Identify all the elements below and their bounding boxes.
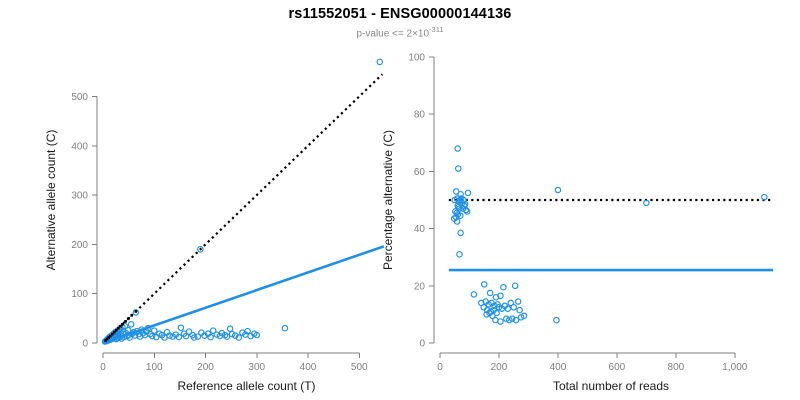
y-tick-label: 60: [414, 167, 426, 178]
data-point: [456, 166, 461, 171]
x-tick-label: 600: [609, 362, 626, 373]
data-point: [481, 305, 486, 310]
data-point: [458, 230, 463, 235]
x-tick-label: 800: [668, 362, 685, 373]
chart-page: rs11552051 - ENSG00000144136 p-value <= …: [0, 0, 800, 400]
data-point: [282, 326, 287, 331]
x-axis-title: Total number of reads: [553, 379, 669, 393]
x-tick-label: 500: [351, 362, 368, 373]
y-tick-label: 40: [414, 224, 426, 235]
x-tick-label: 200: [491, 362, 508, 373]
left-panel: 01002003004005000100200300400500Referenc…: [44, 59, 384, 393]
data-point: [555, 187, 560, 192]
data-point: [493, 317, 498, 322]
y-tick-label: 20: [414, 281, 426, 292]
y-tick-label: 0: [419, 339, 425, 350]
subtitle-text: p-value <= 2×10: [356, 28, 429, 39]
data-point: [554, 317, 559, 322]
data-point: [515, 299, 520, 304]
x-tick-label: 400: [300, 362, 317, 373]
x-tick-label: 0: [100, 362, 106, 373]
page-title: rs11552051 - ENSG00000144136: [0, 6, 800, 22]
x-axis-title: Reference allele count (T): [177, 379, 315, 393]
data-point: [124, 320, 127, 323]
y-axis-title: Percentage alternative (C): [381, 130, 395, 270]
data-point: [471, 292, 476, 297]
data-point: [465, 190, 470, 195]
x-tick-label: 200: [197, 362, 214, 373]
y-tick-label: 0: [82, 339, 88, 350]
data-point: [455, 146, 460, 151]
data-point: [482, 282, 487, 287]
data-point: [517, 307, 522, 312]
data-point: [377, 59, 382, 64]
y-tick-label: 400: [71, 141, 88, 152]
data-point: [487, 290, 492, 295]
data-point: [501, 285, 506, 290]
data-point: [121, 323, 124, 326]
data-point: [178, 325, 183, 330]
y-tick-label: 80: [414, 110, 426, 121]
x-tick-label: 1,000: [722, 362, 747, 373]
reference-diagonal-line: [103, 74, 382, 343]
right-panel: 02040608010002004006008001,000Total numb…: [381, 53, 773, 394]
y-tick-label: 500: [71, 92, 88, 103]
data-point: [511, 305, 516, 310]
data-point: [464, 209, 469, 214]
y-tick-label: 300: [71, 191, 88, 202]
y-tick-label: 100: [71, 289, 88, 300]
data-point: [135, 310, 138, 313]
x-tick-label: 100: [146, 362, 163, 373]
data-point: [152, 328, 157, 333]
data-point: [128, 322, 133, 327]
x-tick-label: 0: [437, 362, 443, 373]
data-point: [127, 317, 130, 320]
y-tick-label: 100: [408, 53, 425, 64]
data-point: [457, 252, 462, 257]
y-tick-label: 200: [71, 240, 88, 251]
y-axis-title: Alternative allele count (C): [44, 130, 58, 271]
x-tick-label: 400: [550, 362, 567, 373]
subtitle-exponent: -311: [429, 25, 443, 34]
x-tick-label: 300: [248, 362, 265, 373]
data-point: [130, 314, 133, 317]
data-point: [227, 326, 232, 331]
data-point: [512, 283, 517, 288]
page-subtitle: p-value <= 2×10-311: [0, 25, 800, 39]
scatter-plot-figure: 01002003004005000100200300400500Referenc…: [0, 0, 800, 400]
